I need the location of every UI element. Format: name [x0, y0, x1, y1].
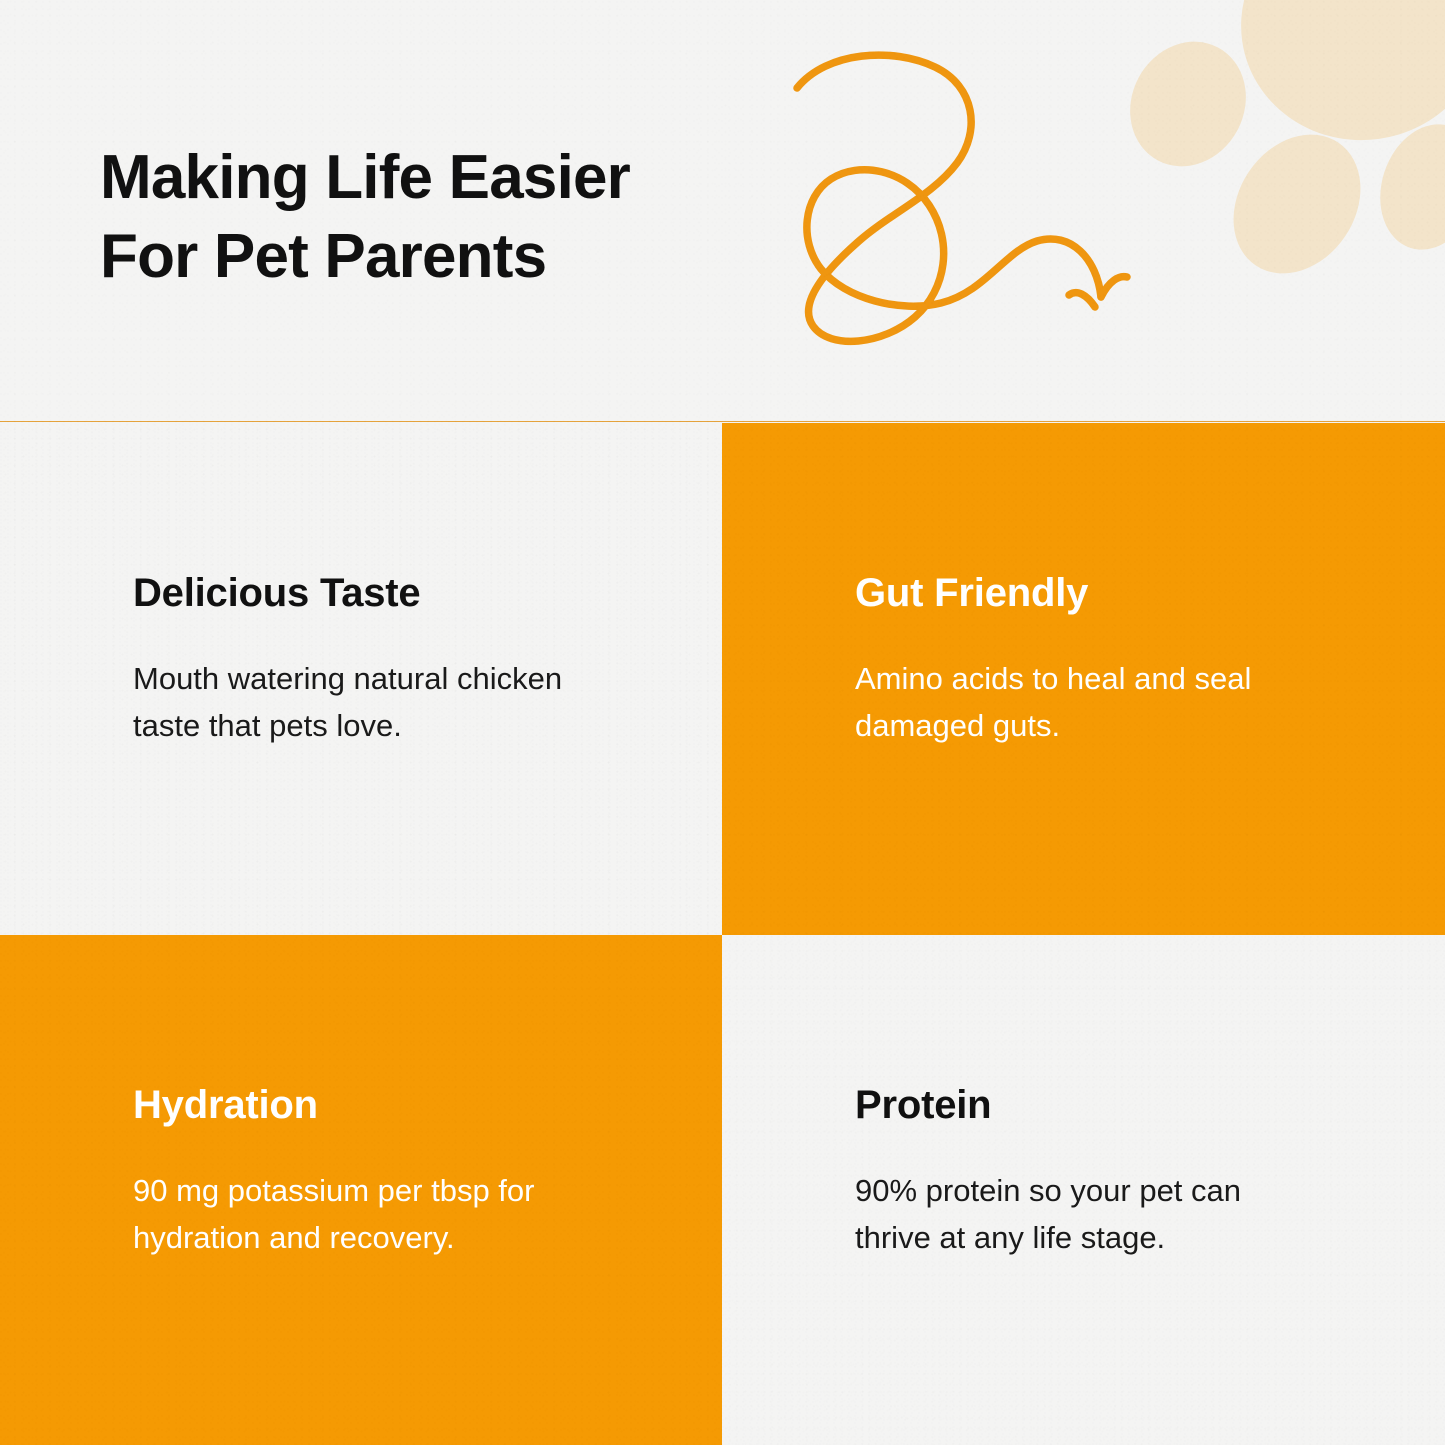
feature-card-protein[interactable]: Protein 90% protein so your pet can thri…: [722, 935, 1445, 1445]
header-divider: [0, 421, 1445, 422]
feature-title: Gut Friendly: [855, 571, 1385, 615]
paw-print-icon: [1125, 0, 1445, 294]
feature-title: Hydration: [133, 1083, 662, 1127]
feature-title: Delicious Taste: [133, 571, 662, 615]
squiggle-arrow-icon: [775, 45, 1145, 375]
page-title-line-1: Making Life Easier: [100, 138, 800, 217]
feature-card-delicious-taste[interactable]: Delicious Taste Mouth watering natural c…: [0, 423, 722, 935]
page-title: Making Life Easier For Pet Parents: [100, 138, 800, 297]
feature-card-gut-friendly[interactable]: Gut Friendly Amino acids to heal and sea…: [722, 423, 1445, 935]
header-section: Making Life Easier For Pet Parents: [0, 0, 1445, 422]
feature-card-hydration[interactable]: Hydration 90 mg potassium per tbsp for h…: [0, 935, 722, 1445]
infographic-page: Making Life Easier For Pet Parents Delic…: [0, 0, 1445, 1445]
page-title-line-2: For Pet Parents: [100, 217, 800, 296]
feature-title: Protein: [855, 1083, 1385, 1127]
feature-body: 90% protein so your pet can thrive at an…: [855, 1167, 1315, 1261]
feature-body: Mouth watering natural chicken taste tha…: [133, 655, 593, 749]
feature-body: 90 mg potassium per tbsp for hydration a…: [133, 1167, 593, 1261]
feature-grid: Delicious Taste Mouth watering natural c…: [0, 423, 1445, 1445]
feature-body: Amino acids to heal and seal damaged gut…: [855, 655, 1315, 749]
